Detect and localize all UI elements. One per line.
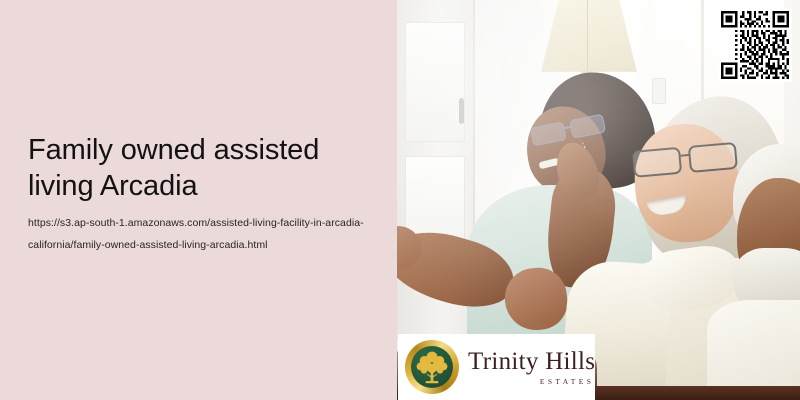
page-title: Family owned assisted living Arcadia: [28, 133, 378, 205]
photo-scene: Trinity Hills ESTATES: [397, 0, 800, 400]
brand-logo[interactable]: Trinity Hills ESTATES: [398, 334, 595, 400]
lamp-shade-seam: [587, 0, 588, 70]
door-panel-upper: [405, 22, 465, 142]
source-url[interactable]: https://s3.ap-south-1.amazonaws.com/assi…: [28, 213, 368, 256]
qr-code-icon: [721, 11, 789, 79]
lens-right: [688, 142, 738, 173]
brand-name: Trinity Hills: [468, 349, 595, 374]
hero-photo: Trinity Hills ESTATES: [397, 0, 800, 400]
person-three-torso: [707, 300, 800, 400]
promo-card: Family owned assisted living Arcadia htt…: [0, 0, 800, 400]
qr-code[interactable]: [718, 8, 792, 82]
lens-left: [632, 147, 682, 178]
tree-in-circle-icon: [405, 340, 459, 394]
brand-tagline: ESTATES: [468, 378, 595, 386]
door-handle: [459, 98, 464, 124]
tree-glyph-icon: [411, 346, 453, 388]
text-panel: Family owned assisted living Arcadia htt…: [0, 0, 397, 400]
brand-wordmark: Trinity Hills ESTATES: [468, 349, 595, 386]
wall-switch: [652, 78, 666, 104]
